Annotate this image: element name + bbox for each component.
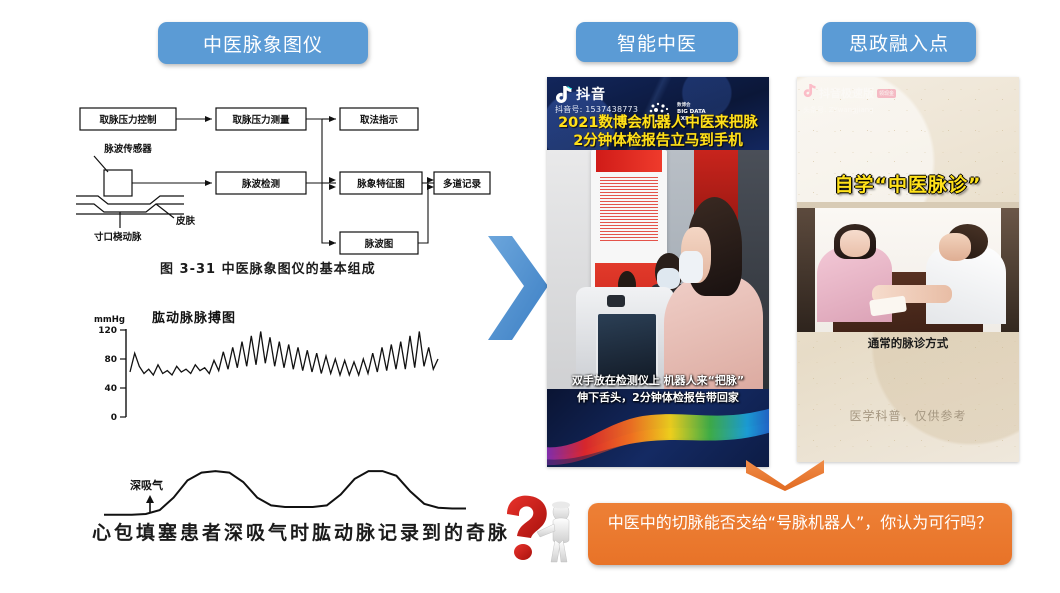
question-mark-illustration — [497, 492, 583, 568]
headline-line-2: 2分钟体检报告立马到手机 — [547, 133, 769, 151]
slide-canvas: 中医脉象图仪 智能中医 思政融入点 — [0, 0, 1060, 593]
douyin-logo: 抖音 — [555, 84, 606, 104]
svg-text:脉波传感器: 脉波传感器 — [103, 143, 152, 155]
caption-line-2: 伸下舌头，2分钟体检报告带回家 — [547, 390, 769, 407]
watermark-account-id: 头条号: ZYwangjiang — [803, 105, 896, 115]
chevron-down-icon — [743, 456, 827, 492]
watermark-label: 抖音极速版 — [819, 85, 874, 101]
pill-label: 思政融入点 — [849, 29, 949, 56]
video-bottom-caption: 双手放在检测仪上 机器人来“把脉” 伸下舌头，2分钟体检报告带回家 — [547, 373, 769, 406]
svg-text:多道记录: 多道记录 — [443, 178, 482, 190]
svg-text:取法指示: 取法指示 — [360, 114, 399, 126]
paradoxical-pulse-caption: 心包填塞患者深吸气时肱动脉记录到的奇脉 — [92, 518, 510, 545]
svg-text:取脉压力测量: 取脉压力测量 — [232, 114, 290, 126]
music-note-icon — [803, 83, 816, 103]
discussion-callout: 中医中的切脉能否交给“号脉机器人”，你认为可行吗？ — [588, 503, 1012, 565]
pulse-chart-svg: mmHg 肱动脉脉搏图 120 80 40 0 — [86, 305, 476, 430]
svg-text:寸口桡动脉: 寸口桡动脉 — [94, 231, 142, 243]
ytick-80: 80 — [104, 355, 117, 365]
svg-text:皮肤: 皮肤 — [175, 215, 196, 227]
ytick-120: 120 — [98, 326, 117, 336]
flowchart-caption: 图 3-31 中医脉象图仪的基本组成 — [160, 258, 376, 277]
section-title-pill-3: 思政融入点 — [822, 22, 976, 62]
svg-text:脉波图: 脉波图 — [364, 238, 394, 250]
douyin-account-id: 抖音号: 1537438773 — [555, 104, 638, 115]
svg-text:脉波检测: 脉波检测 — [241, 178, 281, 190]
video-headline: 2021数博会机器人中医来把脉 2分钟体检报告立马到手机 — [547, 115, 769, 151]
pulse-waveform — [130, 332, 438, 376]
ytick-0: 0 — [111, 413, 117, 423]
pill-label: 中医脉象图仪 — [203, 30, 323, 57]
self-study-title: 自学“中医脉诊” — [797, 170, 1019, 197]
caption-line-1: 双手放在检测仪上 机器人来“把脉” — [547, 373, 769, 390]
pill-label: 智能中医 — [617, 29, 697, 56]
ytick-40: 40 — [104, 384, 117, 394]
medical-disclaimer: 医学科普，仅供参考 — [797, 407, 1019, 424]
music-note-icon — [555, 85, 572, 104]
pulse-diagnosis-illustration — [797, 202, 1019, 332]
brachial-pulse-chart: mmHg 肱动脉脉搏图 120 80 40 0 — [86, 305, 476, 430]
douyin-video-card[interactable]: 抖音 抖音号: 1537438773 数博会 BIG DATA EXP — [547, 77, 769, 467]
douyin-label: 抖音 — [576, 84, 606, 104]
svg-text:取脉压力控制: 取脉压力控制 — [99, 114, 157, 126]
watermark-badge: 领现金 — [877, 89, 896, 98]
chevron-right-icon — [478, 232, 550, 344]
section-title-pill-2: 智能中医 — [576, 22, 738, 62]
illustration-caption: 通常的脉诊方式 — [797, 335, 1019, 351]
self-study-video-card[interactable]: 抖音极速版 领现金 头条号: ZYwangjiang 自学“中医脉诊” 通常的脉… — [797, 77, 1019, 462]
pulse-chart-title: 肱动脉脉搏图 — [152, 310, 236, 326]
callout-text: 中医中的切脉能否交给“号脉机器人”，你认为可行吗？ — [608, 513, 993, 532]
headline-line-1: 2021数博会机器人中医来把脉 — [547, 115, 769, 133]
section-title-pill-1: 中医脉象图仪 — [158, 22, 368, 64]
svg-text:脉象特征图: 脉象特征图 — [356, 178, 405, 190]
pulse-chart-ylabel: mmHg — [94, 315, 125, 325]
expo-photo — [547, 150, 769, 395]
douyin-lite-watermark: 抖音极速版 领现金 头条号: ZYwangjiang — [803, 83, 896, 115]
deep-breath-annotation: 深吸气 — [130, 478, 163, 492]
paradoxical-waveform — [104, 471, 466, 515]
expo-cn: 数博会 — [677, 103, 706, 109]
